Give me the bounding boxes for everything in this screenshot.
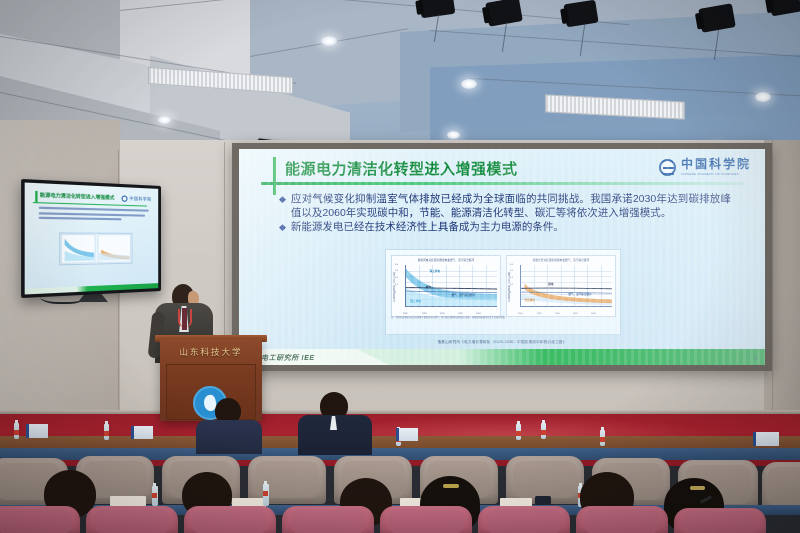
cas-logo: 中国科学院 CHINESE ACADEMY OF SCIENCES <box>659 158 751 176</box>
person-torso <box>196 420 262 454</box>
downlight <box>461 79 477 89</box>
ceiling <box>0 0 800 152</box>
chart-wind: 新建风电对比现有燃煤电和燃气、蒸汽联合循环 平准化度电成本（元/千瓦时） <box>391 255 501 317</box>
audience-seat <box>282 506 374 533</box>
y-tick: 0.4 <box>395 277 398 279</box>
water-bottle <box>14 423 19 439</box>
cas-emblem-icon <box>122 195 128 201</box>
name-placard <box>396 428 418 441</box>
name-placard <box>131 426 153 439</box>
bullet-marker-icon: ◆ <box>279 193 286 220</box>
downlight <box>447 131 460 139</box>
water-bottle <box>263 484 269 506</box>
water-bottle <box>516 424 521 440</box>
monitor-slide-title: 能源电力清洁化转型进入增强模式 <box>40 192 115 201</box>
audience-seat <box>86 506 178 533</box>
downlight <box>321 36 337 46</box>
slide-source-note: 落基山研究所《电力增长零碳化（2020-2030）中国实现碳中和的必经之路》 <box>239 340 765 345</box>
x-tick: 2020 <box>403 313 408 315</box>
y-tick: 0.6 <box>395 270 398 272</box>
monitor-cas-logo: 中国科学院 <box>122 195 152 202</box>
series-label-coal: 煤电 <box>426 285 431 289</box>
x-tick: 2035 <box>573 313 578 315</box>
confidence-monitor: 能源电力清洁化转型进入增强模式 中国科学院 <box>21 179 161 298</box>
slide-title: 能源电力清洁化转型进入增强模式 <box>285 158 518 179</box>
series-label-coal: 煤电 <box>548 282 553 286</box>
auditorium-photo: 能源电力清洁化转型进入增强模式 中国科学院 CHINESE ACADEMY OF… <box>0 0 800 533</box>
water-bottle <box>104 424 109 440</box>
audience-seat <box>674 508 766 533</box>
cas-logo-text: 中国科学院 <box>129 196 151 203</box>
name-placard <box>753 432 779 446</box>
hair-clip <box>443 484 459 488</box>
cas-logo-subtitle: CHINESE ACADEMY OF SCIENCES <box>681 172 751 176</box>
accent-underline <box>33 202 147 207</box>
series-label-onshore-wind: 陆上风电 <box>411 299 421 303</box>
accent-mark <box>273 157 276 195</box>
chart-footnote: 注：平准化度电成本对比分析基于现有煤电与燃气、蒸汽联合循环机组的运行成本，新能源… <box>391 317 615 320</box>
accent-underline <box>261 182 745 185</box>
x-tick: 2030 <box>440 313 445 315</box>
projection-screen: 能源电力清洁化转型进入增强模式 中国科学院 CHINESE ACADEMY OF… <box>239 149 765 365</box>
monitor-screen: 能源电力清洁化转型进入增强模式 中国科学院 <box>25 183 159 295</box>
wall-seam <box>772 140 773 415</box>
audience-seat <box>478 506 570 533</box>
water-bottle <box>152 486 158 506</box>
monitor-chart-thumb <box>59 232 132 265</box>
x-tick: 2035 <box>458 313 463 315</box>
x-tick: 2025 <box>537 313 542 315</box>
presenter-lanyard <box>178 309 192 327</box>
y-tick: 0.2 <box>395 284 398 286</box>
chart-plot-area: 海上风电 煤电 燃气、蒸汽联合循环 陆上风电 <box>405 265 497 307</box>
series-label-gas: 燃气、蒸汽联合循环 <box>568 292 591 296</box>
chart-title: 新建光伏对比现有燃煤电和燃气、蒸汽联合循环 <box>507 258 615 262</box>
x-tick: 2040 <box>591 313 596 315</box>
chart-block: 新建风电对比现有燃煤电和燃气、蒸汽联合循环 平准化度电成本（元/千瓦时） <box>385 249 621 335</box>
water-bottle <box>541 423 546 439</box>
y-tick: 0 <box>395 292 396 294</box>
audience-seat <box>380 506 472 533</box>
downlight <box>755 92 771 102</box>
y-tick: 0.2 <box>510 284 513 286</box>
slide-bullets: ◆ 应对气候变化抑制温室气体排放已经成为全球面临的共同挑战。我国承诺2030年达… <box>279 193 731 236</box>
slide-footer-bar <box>239 349 765 365</box>
cas-logo-text: 中国科学院 <box>681 158 751 170</box>
smartphone <box>535 496 551 505</box>
chart-title: 新建风电对比现有燃煤电和燃气、蒸汽联合循环 <box>392 258 500 262</box>
name-placard <box>26 424 48 438</box>
bullet-item: ◆ 新能源发电已经在技术经济性上具备成为主力电源的条件。 <box>279 221 731 235</box>
cas-emblem-icon <box>659 159 676 176</box>
series-label-pv: 光伏发电 <box>525 298 535 302</box>
hair-clip <box>690 486 705 490</box>
downlight <box>158 116 171 124</box>
y-tick: 0.4 <box>510 277 513 279</box>
podium-institution-name: 山东科技大学 <box>168 346 254 358</box>
bullet-text: 应对气候变化抑制温室气体排放已经成为全球面临的共同挑战。我国承诺2030年达到碳… <box>291 193 731 220</box>
series-label-offshore-wind: 海上风电 <box>430 269 440 273</box>
notebook <box>110 496 146 506</box>
monitor-bullets <box>39 207 151 224</box>
y-tick: 0 <box>510 292 511 294</box>
y-tick: 0.8 <box>510 264 513 266</box>
audience-seat <box>184 506 276 533</box>
presentation-slide: 能源电力清洁化转型进入增强模式 中国科学院 CHINESE ACADEMY OF… <box>239 149 765 365</box>
x-tick: 2030 <box>555 313 560 315</box>
slide-page-number: 3 <box>754 356 757 362</box>
bullet-text: 新能源发电已经在技术经济性上具备成为主力电源的条件。 <box>291 221 731 235</box>
water-bottle <box>600 430 605 446</box>
x-tick: 2040 <box>476 313 481 315</box>
chart-solar: 新建光伏对比现有燃煤电和燃气、蒸汽联合循环 平准化度电成本（元/千瓦时） <box>506 255 616 317</box>
audience-seat <box>576 506 668 533</box>
audience-seat <box>0 506 80 533</box>
bullet-marker-icon: ◆ <box>279 221 286 235</box>
slide-footer-text: 电工研究所 IEE <box>261 353 315 363</box>
y-tick: 0.6 <box>510 270 513 272</box>
series-label-gas: 燃气、蒸汽联合循环 <box>452 293 475 297</box>
audience-seat <box>248 456 326 504</box>
y-tick: 0.8 <box>395 264 398 266</box>
x-tick: 2020 <box>518 313 523 315</box>
x-tick: 2025 <box>422 313 427 315</box>
chart-plot-area: 煤电 燃气、蒸汽联合循环 光伏发电 <box>520 265 612 307</box>
bullet-item: ◆ 应对气候变化抑制温室气体排放已经成为全球面临的共同挑战。我国承诺2030年达… <box>279 193 731 220</box>
